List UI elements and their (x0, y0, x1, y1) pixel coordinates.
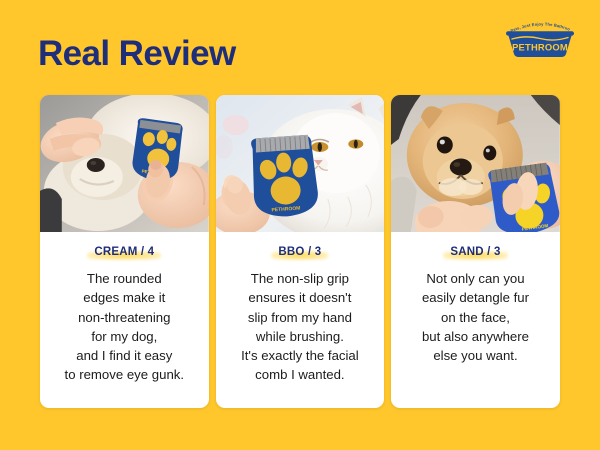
review-card-label: BBO / 3 (271, 246, 328, 259)
review-card-body: CREAM / 4 The rounded edges make it non-… (40, 232, 209, 408)
review-card-body: BBO / 3 The non-slip grip ensures it doe… (216, 232, 385, 408)
svg-text:Pets, Just Enjoy The Bathroom: Pets, Just Enjoy The Bathroom (502, 16, 571, 33)
pethroom-logo: Pets, Just Enjoy The Bathroom PETHROOM (502, 16, 578, 60)
review-card[interactable]: PETHROOM CREAM / 4 The rounded edges mak… (40, 95, 209, 408)
svg-text:PETHROOM: PETHROOM (512, 42, 568, 53)
review-cards-row: PETHROOM CREAM / 4 The rounded edges mak… (40, 95, 560, 408)
review-card-body: SAND / 3 Not only can you easily detangl… (391, 232, 560, 408)
review-card-text: The non-slip grip ensures it doesn't sli… (241, 269, 359, 385)
review-card-label: SAND / 3 (443, 246, 507, 259)
review-card[interactable]: PETHROOM BBO / 3 The non-slip grip ensur… (216, 95, 385, 408)
review-card-label: CREAM / 4 (87, 246, 161, 259)
review-card-text: The rounded edges make it non-threatenin… (65, 269, 185, 385)
review-photo-cream: PETHROOM (40, 95, 209, 232)
review-card[interactable]: PETHROOM SAND / 3 Not only can you easil… (391, 95, 560, 408)
review-card-text: Not only can you easily detangle fur on … (422, 269, 529, 365)
page-title: Real Review (38, 36, 236, 71)
page-header: Real Review Pets, Just Enjoy The Bathroo… (0, 0, 600, 95)
review-photo-sand: PETHROOM (391, 95, 560, 232)
review-photo-bbo: PETHROOM (216, 95, 385, 232)
